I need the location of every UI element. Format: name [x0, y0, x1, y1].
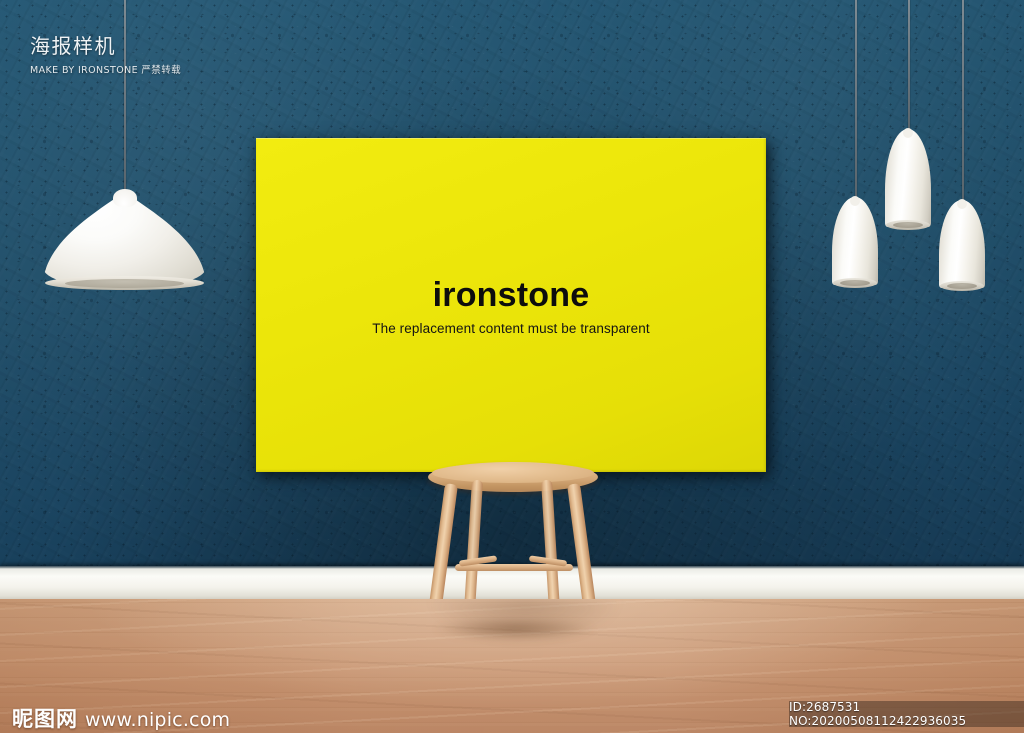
lamp-cord-1: [855, 0, 857, 200]
stool-leg-back-left: [464, 480, 483, 604]
watermark-credit: MAKE BY IRONSTONE 严禁转载: [30, 62, 181, 76]
lamp-apex: [957, 199, 967, 209]
lamp-rim-inner: [893, 222, 922, 228]
lamp-rim-inner: [840, 280, 869, 286]
lamp-cord-2: [908, 0, 910, 132]
cone-lamp-1: [832, 197, 878, 285]
lamp-cord-3: [962, 0, 964, 203]
poster-title: ironstone: [256, 278, 766, 314]
poster-subtitle: The replacement content must be transpar…: [256, 321, 766, 336]
lamp-apex: [850, 196, 860, 206]
dome-lamp-left: [43, 192, 206, 288]
watermark-bottom: 昵图网 www.nipic.com: [12, 703, 230, 733]
cone-lamp-2: [885, 129, 931, 227]
nipic-url: www.nipic.com: [85, 709, 230, 731]
lamp-apex: [903, 128, 913, 138]
lamp-rim-inner: [65, 279, 184, 288]
stool-seat-surface: [432, 463, 594, 483]
nipic-logo: 昵图网: [12, 703, 78, 733]
poster-text-block: ironstone The replacement content must b…: [256, 278, 766, 336]
lamp-apex: [113, 189, 137, 207]
yellow-poster[interactable]: ironstone The replacement content must b…: [256, 138, 766, 472]
poster-mockup-scene: ironstone The replacement content must b…: [0, 0, 1024, 733]
stool-leg-back-right: [541, 480, 560, 604]
lamp-rim-inner: [947, 283, 976, 289]
watermark-brand-cn: 海报样机: [30, 30, 181, 59]
watermark-top: 海报样机 MAKE BY IRONSTONE 严禁转载: [30, 30, 181, 76]
lamp-shade: [832, 197, 878, 285]
lamp-shade: [885, 129, 931, 227]
cone-lamp-3: [939, 200, 985, 288]
image-id-text: ID:2687531 NO:20200508112422936035: [789, 700, 1024, 728]
lamp-shade: [939, 200, 985, 288]
image-id-strip: ID:2687531 NO:20200508112422936035: [789, 701, 1024, 727]
stool-shadow: [432, 618, 597, 640]
